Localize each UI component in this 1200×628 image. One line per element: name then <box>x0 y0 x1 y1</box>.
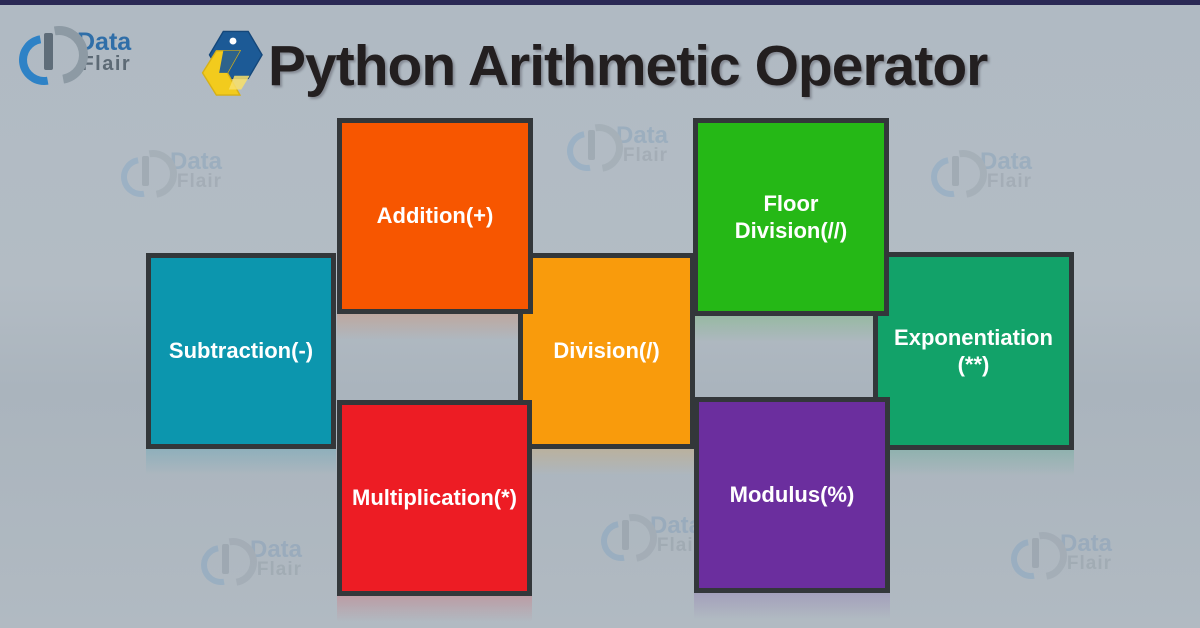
operator-label-exponentiation: Exponentiation (**) <box>894 324 1053 379</box>
watermark-dataflair: DataFlair <box>600 512 702 558</box>
watermark-logo-icon <box>200 536 246 582</box>
watermark-text: DataFlair <box>616 125 668 165</box>
operator-label-modulus: Modulus(%) <box>730 481 855 509</box>
watermark-text: DataFlair <box>170 151 222 191</box>
operator-box-subtraction[interactable]: Subtraction(-) <box>146 253 336 449</box>
dataflair-logo-icon <box>18 24 74 80</box>
watermark-name-data: Data <box>980 151 1032 173</box>
watermark-name-data: Data <box>170 151 222 173</box>
operator-label-division: Division(/) <box>553 337 659 365</box>
operator-box-reflection <box>693 316 889 342</box>
operator-box-multiplication[interactable]: Multiplication(*) <box>337 400 532 596</box>
operator-box-reflection <box>873 450 1074 476</box>
operator-box-reflection <box>518 449 695 475</box>
watermark-dataflair: DataFlair <box>200 536 302 582</box>
watermark-dataflair: DataFlair <box>566 122 668 168</box>
watermark-name-data: Data <box>1060 533 1112 555</box>
watermark-text: DataFlair <box>250 539 302 579</box>
operator-label-floor-division: Floor Division(//) <box>735 190 847 245</box>
python-logo-icon <box>198 30 268 102</box>
dataflair-logo: Data Flair <box>18 24 131 80</box>
watermark-dataflair: DataFlair <box>120 148 222 194</box>
watermark-name-flair: Flair <box>250 561 302 578</box>
watermark-logo-icon <box>120 148 166 194</box>
watermark-name-data: Data <box>616 125 668 147</box>
operator-box-floor-division[interactable]: Floor Division(//) <box>693 118 889 316</box>
watermark-logo-icon <box>930 148 976 194</box>
operator-box-division[interactable]: Division(/) <box>518 253 695 449</box>
page-title: Python Arithmetic Operator <box>268 33 987 99</box>
watermark-text: DataFlair <box>1060 533 1112 573</box>
operator-box-reflection <box>337 314 533 340</box>
watermark-name-flair: Flair <box>1060 555 1112 572</box>
watermark-logo-icon <box>600 512 646 558</box>
operator-box-modulus[interactable]: Modulus(%) <box>694 397 890 593</box>
operator-label-subtraction: Subtraction(-) <box>169 337 313 365</box>
top-accent-strip <box>0 0 1200 5</box>
operator-label-addition: Addition(+) <box>377 202 494 230</box>
watermark-dataflair: DataFlair <box>1010 530 1112 576</box>
operator-box-reflection <box>146 449 336 475</box>
watermark-name-data: Data <box>250 539 302 561</box>
operator-label-multiplication: Multiplication(*) <box>352 484 517 512</box>
watermark-name-flair: Flair <box>980 173 1032 190</box>
operator-box-exponentiation[interactable]: Exponentiation (**) <box>873 252 1074 450</box>
watermark-dataflair: DataFlair <box>930 148 1032 194</box>
operator-box-reflection <box>694 593 890 619</box>
watermark-text: DataFlair <box>980 151 1032 191</box>
watermark-logo-icon <box>566 122 612 168</box>
watermark-logo-icon <box>1010 530 1056 576</box>
infographic-canvas: DataFlairDataFlairDataFlairDataFlairData… <box>0 0 1200 628</box>
operator-box-reflection <box>337 596 532 622</box>
operator-box-addition[interactable]: Addition(+) <box>337 118 533 314</box>
watermark-name-flair: Flair <box>170 173 222 190</box>
watermark-name-flair: Flair <box>616 147 668 164</box>
